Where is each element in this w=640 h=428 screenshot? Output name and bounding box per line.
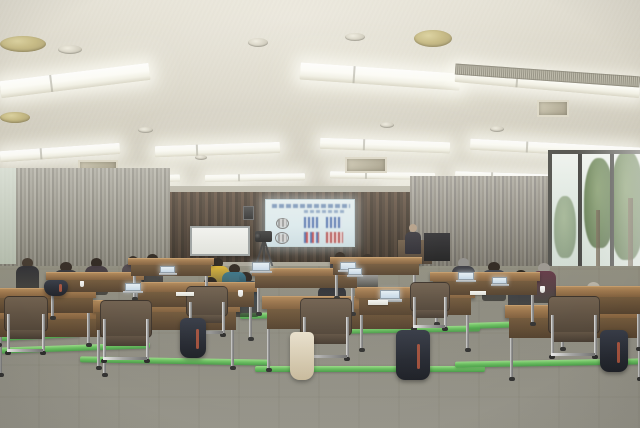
chair-mid-right-foot-right [442, 327, 448, 331]
smoke-detector-4 [138, 127, 153, 133]
table-row1-right-leg-left [335, 275, 338, 296]
slide-subtitle-text [304, 210, 344, 213]
smoke-detector-1 [58, 45, 82, 54]
cup-2 [540, 286, 545, 293]
chair-foreground-right-foot-right [344, 357, 350, 361]
slide-figure-2 [304, 217, 318, 228]
laptop-6-screen [492, 277, 507, 284]
chair-right-near-window-foot-right [592, 355, 598, 359]
chair-right-near-window-foot-left [549, 355, 555, 359]
light-panel-2-seam [352, 66, 355, 83]
bag-desk-left [44, 280, 68, 296]
chair-right-near-window-back [548, 296, 600, 334]
laptop-4-screen [380, 290, 400, 299]
table-row3-mid-foot-right [465, 348, 471, 352]
laptop-7-screen [348, 268, 362, 275]
ceiling-speaker-mid [0, 112, 30, 123]
video-camera [255, 231, 272, 242]
chair-foreground-center-foot-right [144, 359, 150, 363]
chair-right-near-window [548, 296, 600, 358]
chair-left-edge-foot-left [5, 351, 11, 355]
laptop-1 [252, 262, 270, 274]
chair-left-edge-seat [7, 330, 46, 339]
laptop-3-base [159, 273, 177, 275]
table-row4-left-foot-left [0, 373, 4, 377]
table-row2-right-foot-right [530, 322, 536, 326]
laptop-5-screen [458, 272, 474, 280]
light-panel-7-seam [526, 141, 529, 152]
chair-foreground-right-frame-right [346, 317, 349, 360]
table-row1-left [128, 258, 214, 265]
laptop-3-screen [160, 266, 175, 273]
smoke-detector-7 [490, 126, 504, 132]
slide-title-text [272, 204, 350, 208]
light-panel-1-seam [49, 75, 53, 92]
chair-foreground-center-back [100, 300, 152, 338]
camera-lens-icon [255, 233, 261, 239]
table-row2-center-leg-left [257, 288, 260, 312]
chair-mid-right [410, 282, 450, 330]
chair-mid-right-seat [412, 310, 447, 318]
whiteboard [190, 226, 250, 256]
laptop-8-base [123, 291, 142, 293]
av-equipment-cabinet [424, 233, 450, 261]
chair-foreground-center-seat [103, 336, 149, 346]
chair-left-edge-foot-right [40, 351, 46, 355]
chair-mid-right-rail [413, 325, 445, 328]
table-row3-center-foot-right [248, 337, 254, 341]
chair-left-edge-frame-left [7, 314, 10, 354]
table-row4-mid-leg-left [267, 329, 270, 368]
table-row4-right-foot-right [637, 377, 640, 381]
backpack-left-floor-strap [196, 329, 199, 349]
laptop-8-screen [125, 283, 141, 291]
backpack-center-floor [396, 330, 430, 380]
bag-desk-left-strap [59, 284, 62, 292]
table-row2-center-foot-left [256, 312, 262, 316]
chair-right-near-window-frame-right [594, 315, 597, 358]
cup-3 [80, 281, 84, 287]
table-row3-mid-foot-left [359, 348, 365, 352]
chair-right-near-window-seat [551, 332, 597, 342]
slide-figure-4 [278, 234, 287, 242]
laptop-8 [125, 283, 141, 294]
chair-foreground-center-frame-left [103, 319, 106, 362]
laptop-1-screen [252, 262, 270, 271]
ceiling-speaker-right [414, 30, 452, 47]
chair-foreground-center-frame-right [146, 319, 149, 362]
table-row2-left [46, 272, 144, 280]
papers-3 [470, 291, 486, 295]
chair-foreground-center-foot-left [101, 359, 107, 363]
bag-right-floor-strap [617, 342, 620, 363]
ceiling-speaker-left [0, 36, 46, 52]
table-row3-mid-leg-right [466, 315, 469, 348]
laptop-7-base [347, 275, 364, 277]
wall-speaker [243, 206, 254, 220]
square-vent-right [537, 100, 569, 117]
table-row4-right-foot-left [509, 377, 515, 381]
table-row4-center-foot-left [96, 366, 102, 370]
table-row4-left-foot-right [102, 373, 108, 377]
laptop-6 [492, 277, 507, 287]
table-row1-left-top [128, 258, 214, 265]
window-left-strip [0, 168, 16, 264]
smoke-detector-2 [248, 38, 268, 47]
table-row2-left-foot-left [50, 316, 56, 320]
table-row4-center-leg-right [231, 330, 234, 366]
table-row2-center-skirt [255, 276, 357, 288]
table-row2-right-leg-right [531, 295, 534, 322]
slide-figure-5 [304, 232, 319, 243]
laptop-5-base [456, 280, 475, 282]
chair-left-edge-frame-right [42, 314, 45, 354]
table-row4-right-leg-left [510, 338, 513, 377]
light-panel-5-seam [196, 145, 198, 156]
chair-right-near-window-rail [551, 353, 595, 356]
laptop-7 [348, 268, 362, 278]
projection-screen [265, 199, 355, 247]
chair-foreground-right-back [300, 298, 352, 336]
table-row3-right-foot-right [636, 347, 640, 351]
cup-1 [238, 290, 243, 297]
table-row2-right-top [430, 272, 540, 281]
presenter-body [405, 232, 421, 254]
chair-left-edge [4, 296, 48, 354]
table-row3-left-leg-right [87, 313, 90, 343]
tree-foliage-2 [610, 150, 640, 260]
papers-2 [176, 292, 194, 296]
bag-right-floor [600, 330, 628, 372]
smoke-detector-6 [380, 122, 394, 128]
tote-bag-tan [290, 332, 314, 380]
backpack-left-floor [180, 318, 206, 358]
slide-figure-3 [326, 217, 342, 228]
slide-figure-6 [326, 232, 343, 243]
papers-1 [368, 300, 388, 305]
table-row4-center-foot-right [230, 366, 236, 370]
slide-figure-1 [278, 219, 287, 227]
laptop-3 [160, 266, 175, 276]
tree-foliage-3 [554, 196, 576, 258]
table-row3-center-leg-right [249, 307, 252, 337]
table-row2-left-top [46, 272, 144, 280]
light-panel-6-seam [363, 139, 365, 150]
chair-foreground-center [100, 300, 152, 362]
light-panel-9-seam [238, 174, 240, 181]
laptop-5 [458, 272, 474, 283]
laptop-1-base [250, 271, 272, 274]
backpack-center-floor-strap [417, 344, 420, 369]
table-row2-right [430, 272, 540, 281]
chair-foreground-center-rail [103, 357, 147, 360]
table-row3-mid-leg-left [360, 315, 363, 348]
smoke-detector-3 [345, 33, 365, 41]
seminar-room-photo [0, 0, 640, 428]
window-head-frame [548, 150, 640, 154]
light-panel-4-seam [39, 148, 42, 159]
square-vent-center [345, 157, 387, 173]
chair-left-edge-rail [7, 349, 43, 352]
table-row4-mid-foot-left [266, 368, 272, 372]
table-row3-left-foot-right [86, 343, 92, 347]
table-row3-left-foot-left [0, 343, 2, 347]
presenter-head [409, 224, 417, 232]
laptop-6-base [491, 284, 509, 286]
chair-mid-left-foot-right [220, 333, 226, 337]
presenter [405, 224, 421, 254]
chair-right-near-window-frame-left [551, 315, 554, 358]
smoke-detector-5 [195, 155, 207, 160]
